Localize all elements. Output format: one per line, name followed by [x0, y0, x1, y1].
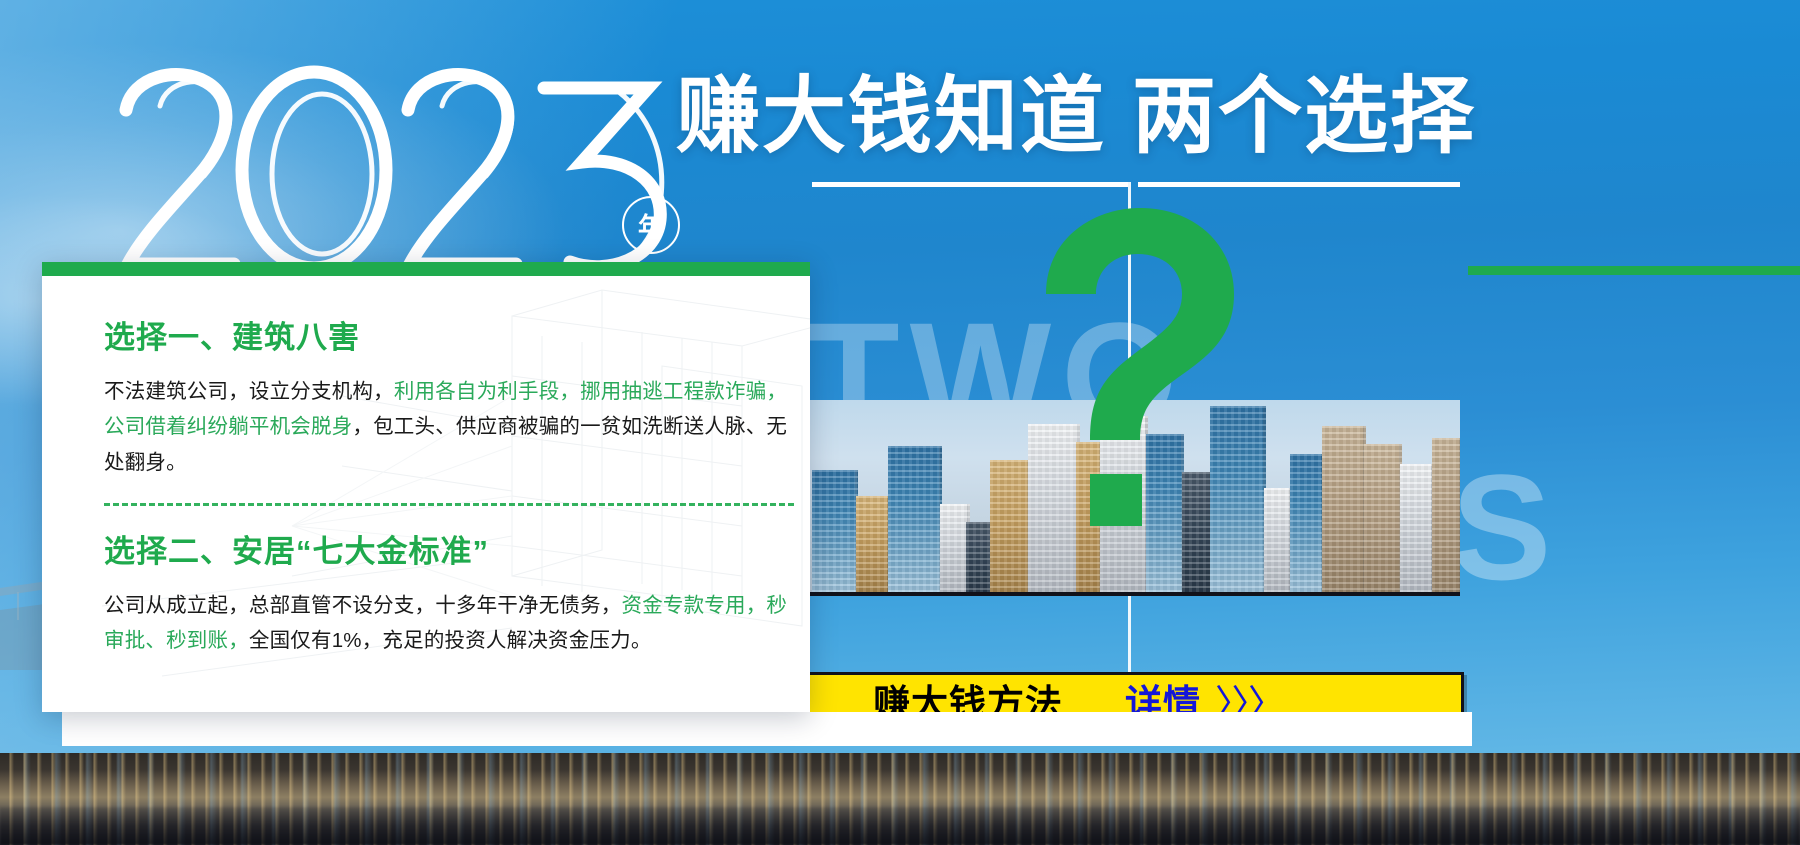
section-two-text-c: 全国仅有1%，充足的投资人解决资金压力。	[249, 629, 652, 652]
water-reflection	[0, 807, 1800, 845]
card-content: 选择一、建筑八害 不法建筑公司，设立分支机构，利用各自为利手段，挪用抽逃工程款诈…	[42, 276, 810, 712]
section-two-title: 选择二、安居“七大金标准”	[104, 536, 788, 567]
poster-canvas: 年 赚大钱知道两个选择 TWO CHOICES 赚大钱方法	[0, 0, 1800, 845]
section-two-body: 公司从成立起，总部直管不设分支，十多年干净无债务，资金专款专用，秒审批、秒到账，…	[104, 588, 788, 659]
headline-part-1: 赚大钱知道	[676, 69, 1106, 163]
content-card: 选择一、建筑八害 不法建筑公司，设立分支机构，利用各自为利手段，挪用抽逃工程款诈…	[42, 262, 810, 712]
green-accent-rule	[1468, 266, 1800, 275]
card-top-accent-bar	[42, 262, 810, 276]
bottom-white-band	[62, 712, 1472, 746]
headline-part-2: 两个选择	[1132, 69, 1476, 163]
section-one-title: 选择一、建筑八害	[104, 322, 788, 353]
section-one-text-a: 不法建筑公司，设立分支机构，	[104, 380, 394, 403]
section-one-body: 不法建筑公司，设立分支机构，利用各自为利手段，挪用抽逃工程款诈骗，公司借着纠纷躺…	[104, 374, 788, 480]
question-mark-icon	[1006, 202, 1264, 540]
headline-rule-left	[812, 182, 1128, 187]
section-divider	[104, 503, 794, 506]
headline-rule-right	[1138, 182, 1460, 187]
section-two-text-a: 公司从成立起，总部直管不设分支，十多年干净无债务，	[104, 594, 622, 617]
waterfront-strip	[0, 753, 1800, 845]
page-title: 赚大钱知道两个选择	[676, 74, 1476, 158]
year-suffix-badge: 年	[622, 196, 680, 254]
